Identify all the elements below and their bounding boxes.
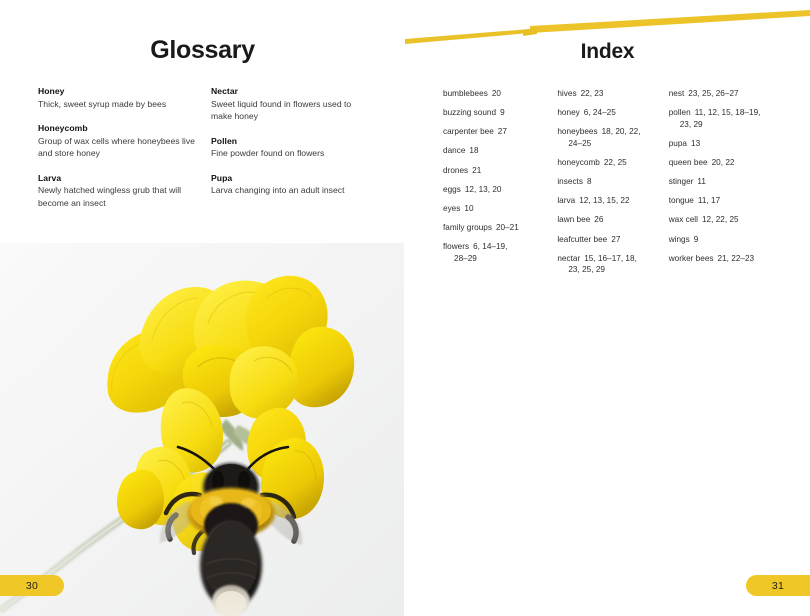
index-entry: flowers6, 14–19, 28–29	[443, 241, 557, 264]
index-pages-continued: 24–25	[557, 138, 668, 150]
glossary-column-2: Nectar Sweet liquid found in flowers use…	[211, 86, 368, 222]
index-entry: hives22, 23	[557, 88, 668, 100]
index-pages: 22, 25	[604, 158, 627, 167]
index-entry: larva12, 13, 15, 22	[557, 195, 668, 207]
index-entry: buzzing sound9	[443, 107, 557, 119]
right-page: Index bumblebees20 buzzing sound9 carpen…	[405, 0, 810, 616]
index-term: insects	[557, 177, 583, 186]
glossary-definition: Larva changing into an adult insect	[211, 184, 368, 196]
index-pages: 11	[697, 177, 706, 186]
page-title-index: Index	[405, 40, 810, 64]
glossary-entry: Honey Thick, sweet syrup made by bees	[38, 86, 195, 110]
index-term: flowers	[443, 242, 469, 251]
glossary-term: Nectar	[211, 86, 368, 98]
glossary-term: Honey	[38, 86, 195, 98]
index-pages: 18	[469, 146, 478, 155]
glossary-definition: Group of wax cells where honeybees live …	[38, 135, 195, 160]
index-entry: nest23, 25, 26–27	[669, 88, 793, 100]
index-term: eggs	[443, 185, 461, 194]
glossary-entry: Nectar Sweet liquid found in flowers use…	[211, 86, 368, 123]
index-term: lawn bee	[557, 215, 590, 224]
glossary-entry: Larva Newly hatched wingless grub that w…	[38, 173, 195, 210]
left-page: Glossary Honey Thick, sweet syrup made b…	[0, 0, 405, 616]
index-pages: 27	[498, 127, 507, 136]
index-entry: wax cell12, 22, 25	[669, 214, 793, 226]
index-term: leafcutter bee	[557, 235, 607, 244]
index-term: larva	[557, 196, 575, 205]
index-pages: 18, 20, 22,	[602, 127, 641, 136]
index-column-3: nest23, 25, 26–27 pollen11, 12, 15, 18–1…	[669, 88, 793, 284]
page-title-glossary: Glossary	[0, 36, 405, 65]
page-number-right: 31	[746, 575, 810, 596]
index-pages: 6, 14–19,	[473, 242, 507, 251]
page-number-left: 30	[0, 575, 64, 596]
index-pages: 12, 13, 15, 22	[579, 196, 629, 205]
index-pages: 12, 22, 25	[702, 215, 739, 224]
index-entry: bumblebees20	[443, 88, 557, 100]
index-entry: eggs12, 13, 20	[443, 184, 557, 196]
index-pages: 15, 16–17, 18,	[584, 254, 637, 263]
index-entry: eyes10	[443, 203, 557, 215]
index-pages: 9	[694, 235, 699, 244]
index-columns: bumblebees20 buzzing sound9 carpenter be…	[443, 88, 793, 284]
index-term: honey	[557, 108, 579, 117]
index-pages: 20–21	[496, 223, 519, 232]
index-entry: nectar15, 16–17, 18, 23, 25, 29	[557, 253, 668, 276]
index-term: nest	[669, 89, 685, 98]
index-term: carpenter bee	[443, 127, 494, 136]
glossary-definition: Thick, sweet syrup made by bees	[38, 98, 195, 110]
index-term: bumblebees	[443, 89, 488, 98]
glossary-term: Honeycomb	[38, 123, 195, 135]
index-pages: 23, 25, 26–27	[688, 89, 738, 98]
book-spread: Glossary Honey Thick, sweet syrup made b…	[0, 0, 810, 616]
index-entry: stinger11	[669, 176, 793, 188]
index-entry: honeybees18, 20, 22, 24–25	[557, 126, 668, 149]
index-entry: worker bees21, 22–23	[669, 253, 793, 265]
glossary-term: Pupa	[211, 173, 368, 185]
index-entry: carpenter bee27	[443, 126, 557, 138]
index-term: wax cell	[669, 215, 698, 224]
glossary-columns: Honey Thick, sweet syrup made by bees Ho…	[38, 86, 368, 222]
index-entry: tongue11, 17	[669, 195, 793, 207]
index-entry: leafcutter bee27	[557, 234, 668, 246]
index-pages: 20	[492, 89, 501, 98]
glossary-entry: Honeycomb Group of wax cells where honey…	[38, 123, 195, 160]
index-pages: 13	[691, 139, 700, 148]
index-pages: 8	[587, 177, 592, 186]
glossary-entry: Pollen Fine powder found on flowers	[211, 136, 368, 160]
index-term: stinger	[669, 177, 694, 186]
index-pages: 21	[472, 166, 481, 175]
index-entry: honey6, 24–25	[557, 107, 668, 119]
glossary-definition: Fine powder found on flowers	[211, 147, 368, 159]
index-entry: pupa13	[669, 138, 793, 150]
index-pages: 26	[594, 215, 603, 224]
index-term: hives	[557, 89, 576, 98]
index-pages: 9	[500, 108, 505, 117]
index-term: pollen	[669, 108, 691, 117]
index-term: eyes	[443, 204, 460, 213]
index-pages: 22, 23	[581, 89, 604, 98]
index-entry: dance18	[443, 145, 557, 157]
index-term: dance	[443, 146, 465, 155]
index-term: honeybees	[557, 127, 597, 136]
index-pages: 6, 24–25	[584, 108, 616, 117]
index-term: buzzing sound	[443, 108, 496, 117]
index-entry: queen bee20, 22	[669, 157, 793, 169]
index-term: wings	[669, 235, 690, 244]
bumblebee-photo	[0, 243, 404, 616]
index-pages: 12, 13, 20	[465, 185, 502, 194]
index-entry: family groups20–21	[443, 222, 557, 234]
glossary-entry: Pupa Larva changing into an adult insect	[211, 173, 368, 197]
index-term: queen bee	[669, 158, 708, 167]
index-entry: honeycomb22, 25	[557, 157, 668, 169]
index-entry: insects8	[557, 176, 668, 188]
index-pages-continued: 23, 25, 29	[557, 264, 668, 276]
index-pages: 10	[464, 204, 473, 213]
index-entry: lawn bee26	[557, 214, 668, 226]
index-entry: drones21	[443, 165, 557, 177]
index-term: drones	[443, 166, 468, 175]
index-term: family groups	[443, 223, 492, 232]
glossary-definition: Newly hatched wingless grub that will be…	[38, 184, 195, 209]
index-entry: wings9	[669, 234, 793, 246]
glossary-column-1: Honey Thick, sweet syrup made by bees Ho…	[38, 86, 195, 222]
index-column-1: bumblebees20 buzzing sound9 carpenter be…	[443, 88, 557, 284]
index-term: worker bees	[669, 254, 714, 263]
index-pages: 20, 22	[712, 158, 735, 167]
glossary-definition: Sweet liquid found in flowers used to ma…	[211, 98, 368, 123]
index-pages: 27	[611, 235, 620, 244]
bumblebee-photo-illustration	[0, 243, 404, 616]
index-pages: 21, 22–23	[718, 254, 755, 263]
index-term: tongue	[669, 196, 694, 205]
index-pages: 11, 12, 15, 18–19,	[695, 108, 761, 117]
index-pages-continued: 28–29	[443, 253, 557, 265]
index-column-2: hives22, 23 honey6, 24–25 honeybees18, 2…	[557, 88, 668, 284]
index-term: pupa	[669, 139, 687, 148]
index-pages-continued: 23, 29	[669, 119, 793, 131]
index-pages: 11, 17	[698, 196, 720, 205]
glossary-term: Larva	[38, 173, 195, 185]
index-term: honeycomb	[557, 158, 600, 167]
index-entry: pollen11, 12, 15, 18–19, 23, 29	[669, 107, 793, 130]
glossary-term: Pollen	[211, 136, 368, 148]
index-term: nectar	[557, 254, 580, 263]
